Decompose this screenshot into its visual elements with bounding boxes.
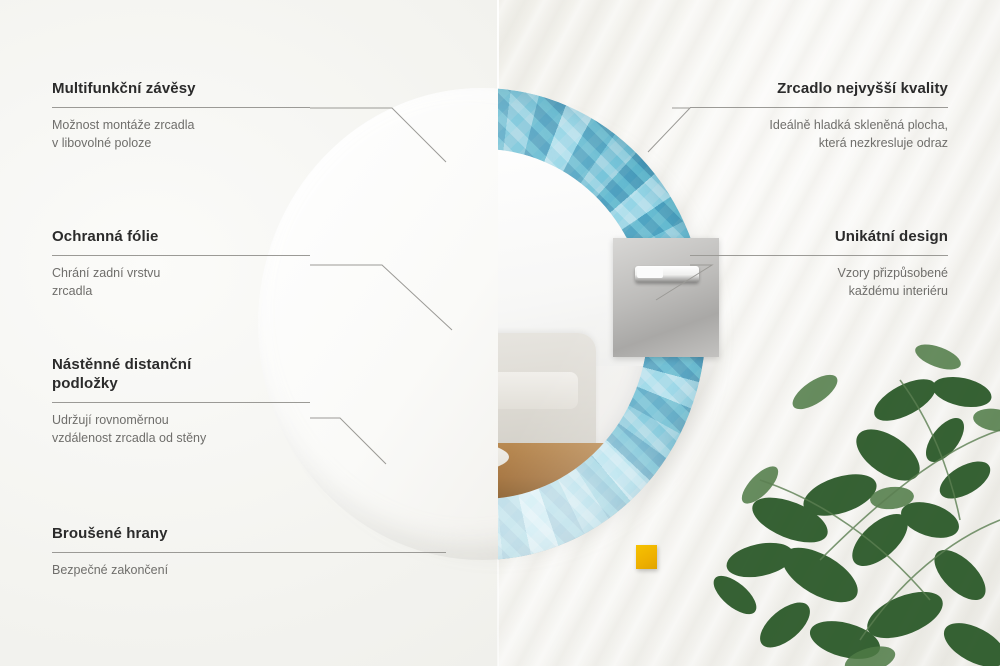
callout-rule: [52, 255, 310, 256]
callout-description: Bezpečné zakončení: [52, 562, 446, 580]
callout-title: Unikátní design: [690, 228, 948, 247]
callout-unique-design: Unikátní design Vzory přizpůsobenékaždém…: [690, 228, 948, 300]
callout-wall-spacers: Nástěnné distančnípodložky Udržují rovno…: [52, 356, 310, 447]
yellow-spacer: [636, 545, 657, 569]
callout-title: Zrcadlo nejvyšší kvality: [690, 80, 948, 99]
callout-description: Udržují rovnoměrnouvzdálenost zrcadla od…: [52, 412, 310, 448]
callout-rule: [52, 402, 310, 403]
infographic-canvas: Multifunkční závěsy Možnost montáže zrca…: [0, 0, 1000, 666]
callout-description: Ideálně hladká skleněná plocha,která nez…: [690, 117, 948, 153]
callout-highest-quality-mirror: Zrcadlo nejvyšší kvality Ideálně hladká …: [690, 80, 948, 152]
callout-title: Nástěnné distančnípodložky: [52, 356, 310, 394]
callout-description: Vzory přizpůsobenékaždému interiéru: [690, 265, 948, 301]
callout-description: Možnost montáže zrcadlav libovolné poloz…: [52, 117, 310, 153]
callout-title: Broušené hrany: [52, 525, 446, 544]
callout-rule: [690, 255, 948, 256]
callout-title: Multifunkční závěsy: [52, 80, 310, 99]
callout-rule: [52, 107, 310, 108]
callout-polished-edges: Broušené hrany Bezpečné zakončení: [52, 525, 446, 580]
callout-protective-film: Ochranná fólie Chrání zadní vrstvuzrcadl…: [52, 228, 310, 300]
callout-description: Chrání zadní vrstvuzrcadla: [52, 265, 310, 301]
callout-title: Ochranná fólie: [52, 228, 310, 247]
mirror: [258, 88, 706, 560]
callout-multifunctional-hangers: Multifunkční závěsy Možnost montáže zrca…: [52, 80, 310, 152]
callout-rule: [690, 107, 948, 108]
callout-rule: [52, 552, 446, 553]
